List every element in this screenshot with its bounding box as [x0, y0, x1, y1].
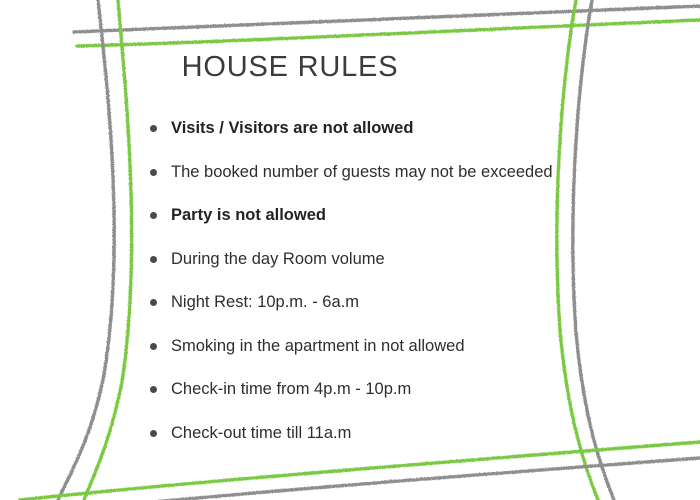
bullet-icon — [150, 386, 157, 393]
rule-item: Visits / Visitors are not allowed — [148, 118, 618, 162]
bullet-icon — [150, 125, 157, 132]
rule-text: During the day Room volume — [171, 249, 385, 269]
rule-item: Party is not allowed — [148, 205, 618, 249]
rule-text: Check-in time from 4p.m - 10p.m — [171, 379, 411, 399]
bullet-icon — [150, 299, 157, 306]
rule-item: During the day Room volume — [148, 249, 618, 293]
rule-item: Night Rest: 10p.m. - 6a.m — [148, 292, 618, 336]
page-title: HOUSE RULES — [0, 50, 580, 84]
rule-text: Check-out time till 11a.m — [171, 423, 351, 443]
bullet-icon — [150, 212, 157, 219]
house-rules-list: Visits / Visitors are not allowedThe boo… — [148, 118, 618, 466]
poster-content: HOUSE RULES Visits / Visitors are not al… — [0, 0, 700, 500]
rule-text: Party is not allowed — [171, 205, 326, 225]
rule-text: Smoking in the apartment in not allowed — [171, 336, 465, 356]
bullet-icon — [150, 430, 157, 437]
bullet-icon — [150, 343, 157, 350]
bullet-icon — [150, 256, 157, 263]
rule-item: Check-in time from 4p.m - 10p.m — [148, 379, 618, 423]
rule-item: Check-out time till 11a.m — [148, 423, 618, 467]
rule-text: Visits / Visitors are not allowed — [171, 118, 413, 138]
rule-text: The booked number of guests may not be e… — [171, 162, 553, 182]
bullet-icon — [150, 169, 157, 176]
rule-item: Smoking in the apartment in not allowed — [148, 336, 618, 380]
rule-item: The booked number of guests may not be e… — [148, 162, 618, 206]
rule-text: Night Rest: 10p.m. - 6a.m — [171, 292, 359, 312]
house-rules-poster: HOUSE RULES Visits / Visitors are not al… — [0, 0, 700, 500]
